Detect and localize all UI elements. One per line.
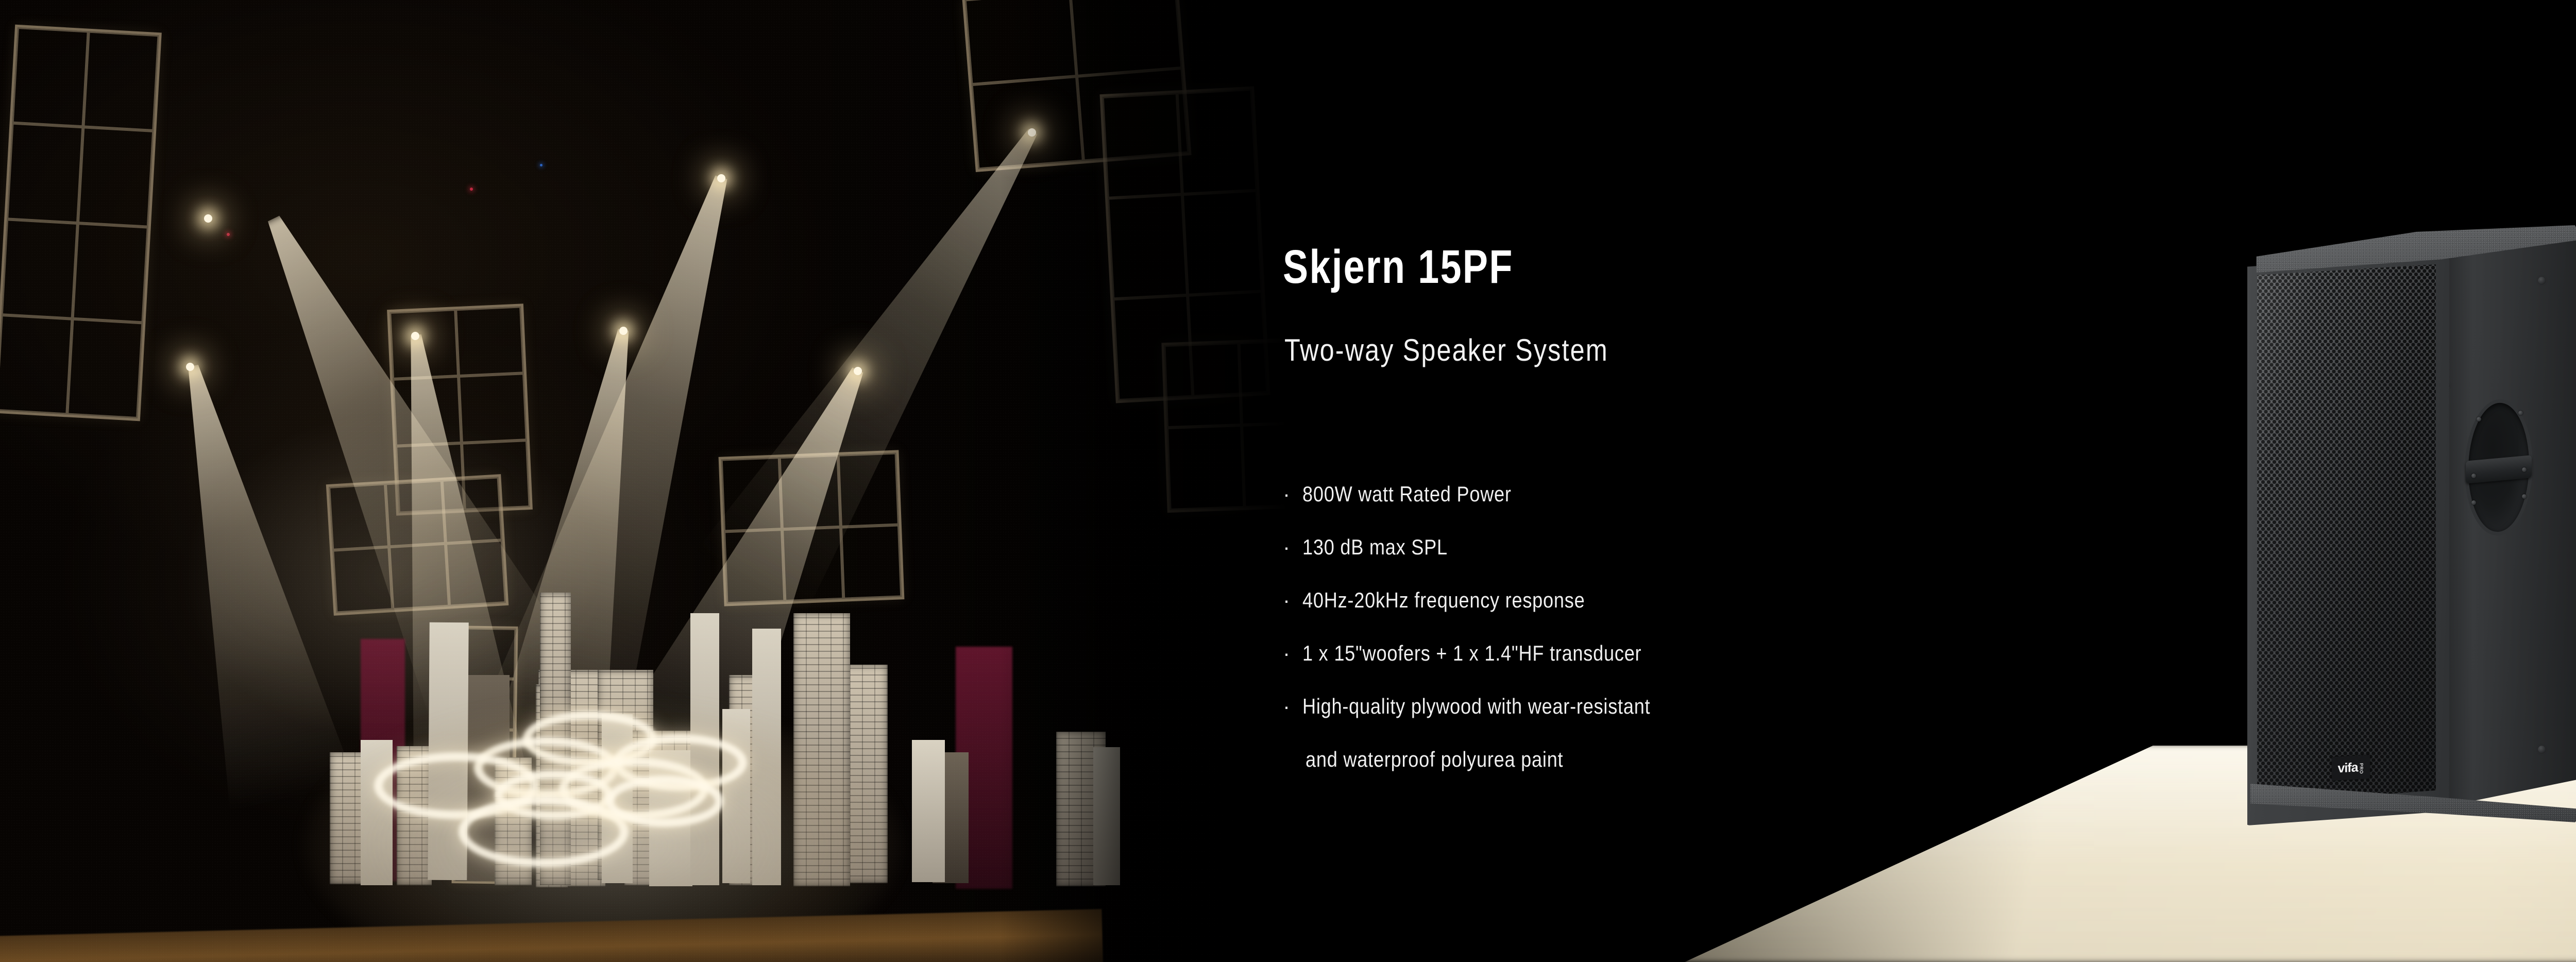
product-title: Skjern 15PF — [1283, 243, 1514, 291]
feature-text: 130 dB max SPL — [1302, 536, 1448, 558]
cabinet-fixing-screw — [2538, 746, 2546, 753]
light-source — [854, 367, 862, 375]
light-source — [204, 214, 212, 223]
feature-item: · 130 dB max SPL — [1283, 536, 2133, 558]
feature-text: High-quality plywood with wear-resistant — [1302, 696, 1650, 717]
product-subtitle: Two-way Speaker System — [1284, 335, 1608, 366]
feature-text: 40Hz-20kHz frequency response — [1302, 589, 1585, 611]
rig-pilot-light — [227, 233, 230, 236]
feature-item-continued: · and waterproof polyurea paint — [1283, 749, 2133, 770]
light-source — [619, 327, 628, 335]
speaker-showcase: vifa PRO — [2241, 0, 2576, 962]
product-banner: Skjern 15PF Two-way Speaker System · 800… — [0, 0, 2576, 962]
brand-suffix: PRO — [2359, 763, 2364, 774]
feature-item: · 40Hz-20kHz frequency response — [1283, 589, 2133, 611]
light-source — [186, 363, 194, 371]
feature-list: · 800W watt Rated Power · 130 dB max SPL… — [1283, 483, 2133, 770]
light-source — [411, 332, 419, 340]
light-source — [717, 174, 725, 182]
loudspeaker-cabinet: vifa PRO — [2241, 225, 2576, 833]
handle-screw — [2471, 474, 2476, 478]
cabinet-fixing-screw — [2538, 277, 2546, 284]
set-piece — [912, 740, 945, 882]
gobo-ring — [459, 796, 629, 867]
window-frame-flat — [326, 474, 509, 616]
feature-text: 1 x 15"woofers + 1 x 1.4"HF transducer — [1302, 643, 1641, 664]
handle-screw — [2471, 500, 2476, 505]
grille-sheen — [2255, 264, 2436, 803]
window-frame-flat — [0, 25, 162, 421]
brand-logo: vifa PRO — [2332, 755, 2370, 781]
handle-screw — [2522, 494, 2527, 499]
photo-fade-overlay — [999, 0, 1288, 962]
rig-pilot-light — [470, 188, 473, 191]
feature-text: and waterproof polyurea paint — [1302, 749, 1563, 770]
feature-item: · 800W watt Rated Power — [1283, 483, 2133, 505]
bullet-marker: · — [1283, 536, 1302, 558]
brand-name: vifa — [2337, 761, 2358, 775]
gobo-ring — [605, 775, 724, 827]
feature-item: · High-quality plywood with wear-resista… — [1283, 696, 2133, 717]
feature-item: · 1 x 15"woofers + 1 x 1.4"HF transducer — [1283, 643, 2133, 664]
handle-screw — [2522, 467, 2527, 472]
bullet-marker: · — [1283, 589, 1302, 611]
handle-screw — [2518, 411, 2523, 415]
window-frame-flat — [719, 450, 905, 606]
stage-photo — [0, 0, 1288, 962]
bullet-marker: · — [1283, 696, 1302, 717]
bullet-marker: · — [1283, 643, 1302, 664]
rig-pilot-light — [540, 164, 543, 166]
bullet-marker: · — [1283, 483, 1302, 505]
product-copy: Skjern 15PF Two-way Speaker System · 800… — [1283, 0, 2159, 962]
handle-screw — [2477, 417, 2481, 421]
feature-text: 800W watt Rated Power — [1302, 483, 1512, 505]
